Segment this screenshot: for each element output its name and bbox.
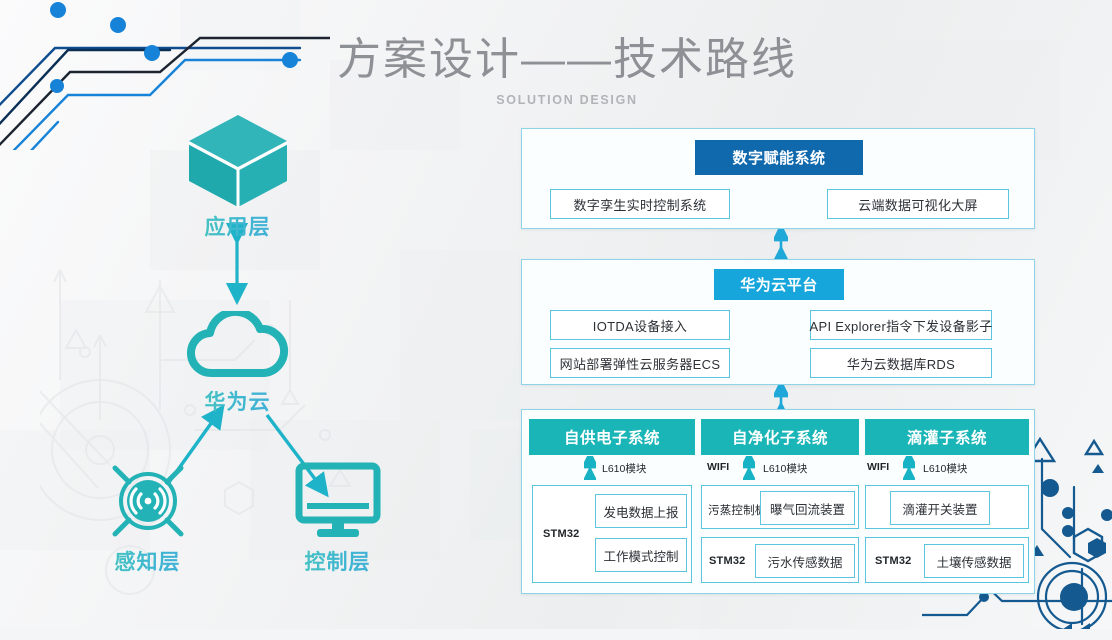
- link-label-l610-drip: L610模块: [923, 461, 967, 476]
- group-stm32-sewage: STM32 污水传感数据: [701, 537, 859, 583]
- layer-label-sensing: 感知层: [75, 546, 220, 576]
- box-aeration-reflux-device[interactable]: 曝气回流装置: [760, 491, 855, 525]
- group-sewage-control-board: 污蒸控制板 曝气回流装置: [701, 485, 859, 529]
- link-label-wifi-drip: WIFI: [867, 461, 889, 473]
- box-cloud-visualization-screen[interactable]: 云端数据可视化大屏: [827, 189, 1009, 219]
- link-arrow-icon: [743, 456, 755, 480]
- box-huawei-cloud-rds[interactable]: 华为云数据库RDS: [810, 348, 992, 378]
- monitor-icon: [265, 460, 410, 542]
- layer-illustration: 应用层 华为云: [55, 115, 415, 605]
- link-label-l610-self-purify: L610模块: [763, 461, 807, 476]
- box-website-ecs[interactable]: 网站部署弹性云服务器ECS: [550, 348, 730, 378]
- layer-node-control: 控制层: [265, 460, 410, 576]
- link-label-wifi-self-purify: WIFI: [707, 461, 729, 473]
- layer-node-application: 应用层: [165, 115, 310, 241]
- panel-digital-enablement: 数字赋能系统 数字孪生实时控制系统 云端数据可视化大屏: [521, 128, 1035, 229]
- link-row-self-purify: WIFI L610模块: [701, 455, 859, 481]
- group-tag-sewage-control-board: 污蒸控制板: [708, 502, 767, 518]
- link-label-l610-self-power: L610模块: [602, 461, 646, 476]
- page-subtitle: SOLUTION DESIGN: [322, 93, 812, 107]
- link-row-self-power: L610模块: [529, 455, 695, 481]
- technical-route-diagram: 数字赋能系统 数字孪生实时控制系统 云端数据可视化大屏 华为云平台 IOTDA设…: [521, 128, 1035, 594]
- layer-node-cloud: 华为云: [165, 310, 310, 416]
- cube-icon: [165, 115, 310, 207]
- page-title: 方案设计——技术路线: [322, 36, 812, 84]
- layer-label-cloud: 华为云: [165, 386, 310, 416]
- group-drip-switch: 滴灌开关装置: [865, 485, 1029, 529]
- panel-subsystems: 自供电子系统 L610模块 STM32 发电数据上报 工作模式控制 自净化子系统…: [521, 409, 1035, 594]
- layer-label-control: 控制层: [265, 546, 410, 576]
- layer-label-application: 应用层: [165, 211, 310, 241]
- box-sewage-sensor-data[interactable]: 污水传感数据: [755, 544, 855, 578]
- cloud-icon: [165, 310, 310, 382]
- subsystem-drip-irrigation: 滴灌子系统 WIFI L610模块 滴灌开关装置 STM32 土壤传感数据: [865, 419, 1029, 586]
- subsystem-self-purify: 自净化子系统 WIFI L610模块 污蒸控制板 曝气回流装置 STM32 污水…: [701, 419, 859, 586]
- box-gen-data-report[interactable]: 发电数据上报: [595, 494, 687, 528]
- box-drip-switch-device[interactable]: 滴灌开关装置: [890, 491, 990, 525]
- box-iotda-device-access[interactable]: IOTDA设备接入: [550, 310, 730, 340]
- link-arrow-icon: [903, 456, 915, 480]
- connector-arrow-top-middle: [774, 229, 788, 259]
- title-block: 方案设计——技术路线 SOLUTION DESIGN: [322, 36, 812, 107]
- link-row-drip-irrigation: WIFI L610模块: [865, 455, 1029, 481]
- subsystem-head-drip-irrigation[interactable]: 滴灌子系统: [865, 419, 1029, 455]
- subsystem-self-power: 自供电子系统 L610模块 STM32 发电数据上报 工作模式控制: [529, 419, 695, 586]
- sensor-signal-icon: [75, 460, 220, 542]
- panel-head-digital-enablement[interactable]: 数字赋能系统: [695, 140, 863, 175]
- link-arrow-icon: [584, 456, 596, 480]
- subsystem-head-self-power[interactable]: 自供电子系统: [529, 419, 695, 455]
- layer-node-sensing: 感知层: [75, 460, 220, 576]
- group-stm32-power: STM32 发电数据上报 工作模式控制: [532, 485, 692, 583]
- group-tag-stm32-sewage: STM32: [709, 555, 745, 567]
- box-digital-twin-control-system[interactable]: 数字孪生实时控制系统: [550, 189, 730, 219]
- panel-huawei-cloud-platform: 华为云平台 IOTDA设备接入 API Explorer指令下发设备影子 网站部…: [521, 259, 1035, 385]
- subsystem-head-self-purify[interactable]: 自净化子系统: [701, 419, 859, 455]
- panel-head-huawei-cloud-platform[interactable]: 华为云平台: [714, 269, 844, 300]
- group-tag-stm32-soil: STM32: [875, 555, 911, 567]
- box-work-mode-control[interactable]: 工作模式控制: [595, 538, 687, 572]
- group-tag-stm32-power: STM32: [543, 528, 579, 540]
- box-soil-sensor-data[interactable]: 土壤传感数据: [924, 544, 1024, 578]
- box-api-explorer-device-shadow[interactable]: API Explorer指令下发设备影子: [810, 310, 992, 340]
- group-stm32-soil: STM32 土壤传感数据: [865, 537, 1029, 583]
